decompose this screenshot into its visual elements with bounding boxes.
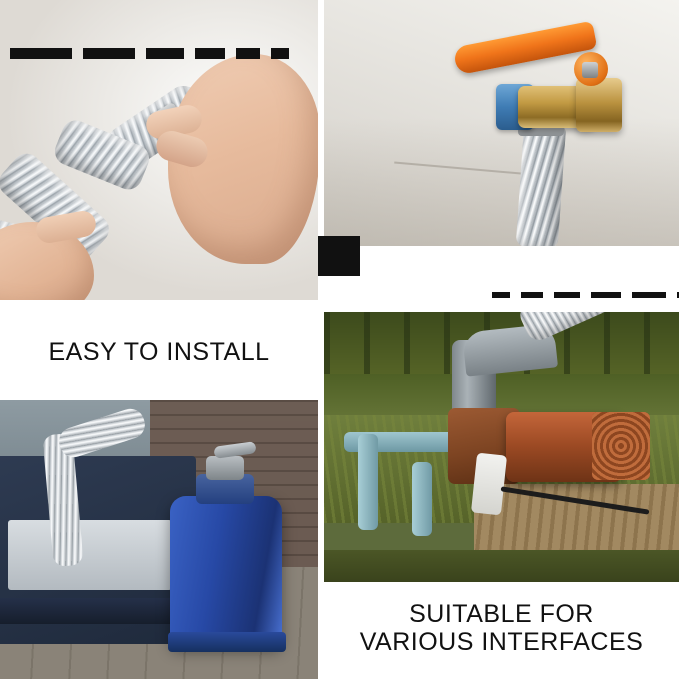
ground-strip [324,550,679,582]
dash-segment [521,292,543,298]
brass-valve-outlet [576,78,622,132]
dashed-decor-mid-right [492,292,679,298]
cart-shelf [0,598,190,624]
cylinder-base-ring [168,632,286,652]
product-feature-collage: EASY TO INSTALL SUITABLE FOR VARIOUS INT… [0,0,679,679]
dashed-decor-top-left [10,48,300,59]
wall-stain [324,118,679,246]
orange-ball-valve-photo [324,0,679,246]
dash-segment [271,48,289,59]
motor-fan-cover [592,412,650,480]
dash-segment [632,292,666,298]
black-square-decor [318,236,360,276]
cylinder-valve [206,456,244,480]
dash-segment [83,48,135,59]
dash-segment [236,48,260,59]
caption-suitable-for-various-interfaces: SUITABLE FOR VARIOUS INTERFACES [324,600,679,656]
dash-segment [10,48,72,59]
blue-pvc-pipe [358,434,378,530]
lever-bolt [582,62,598,78]
gas-cylinder-photo [0,400,318,679]
dash-segment [492,292,510,298]
blue-pvc-pipe [412,462,432,536]
water-pump-photo [324,312,679,582]
electrical-connector [471,453,507,516]
blue-gas-cylinder [170,496,282,646]
hand-installing-hose-photo [0,0,318,300]
cart-panel [8,520,172,590]
dash-segment [146,48,184,59]
dash-segment [591,292,621,298]
dash-segment [195,48,225,59]
braided-hose [516,121,567,246]
dash-segment [554,292,580,298]
caption-easy-to-install: EASY TO INSTALL [0,338,318,366]
